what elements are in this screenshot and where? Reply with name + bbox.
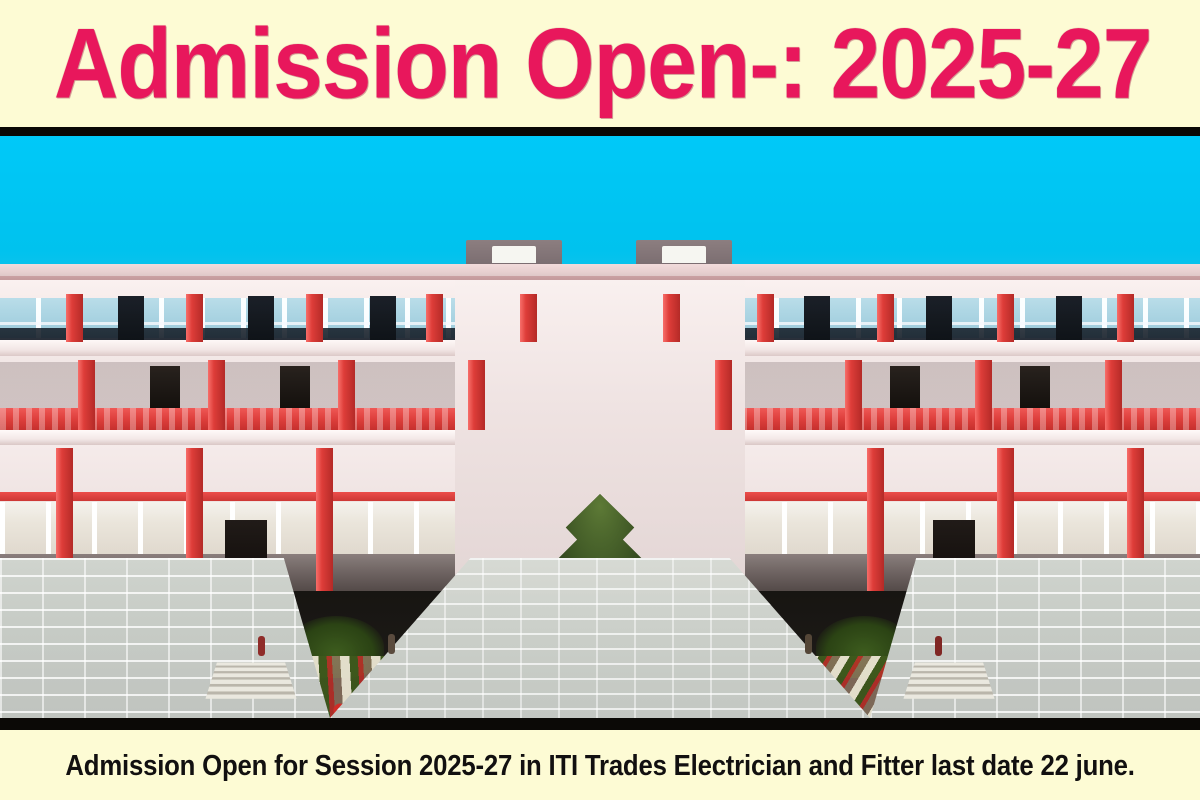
- pillar-mid-5: [715, 360, 732, 430]
- pillar-mid-4: [468, 360, 485, 430]
- admission-banner: Admission Open-: 2025-27: [0, 0, 1200, 800]
- pillar-top-4: [426, 294, 443, 342]
- pillar-top-7: [757, 294, 774, 342]
- page-title: Admission Open-: 2025-27: [48, 14, 1151, 113]
- bottom-divider: [0, 718, 1200, 730]
- pillar-top-2: [186, 294, 203, 342]
- roof-structure-right: [636, 240, 732, 266]
- pillar-mid-8: [1105, 360, 1122, 430]
- person-right-2: [805, 634, 812, 654]
- title-bar: Admission Open-: 2025-27: [0, 0, 1200, 127]
- stairs-left: [205, 662, 296, 698]
- person-left: [258, 636, 265, 656]
- pillar-mid-7: [975, 360, 992, 430]
- pillar-mid-2: [208, 360, 225, 430]
- caption-bar: Admission Open for Session 2025-27 in IT…: [0, 730, 1200, 800]
- pillar-top-6: [663, 294, 680, 342]
- pillar-ground-3: [316, 448, 333, 596]
- pillar-mid-1: [78, 360, 95, 430]
- pillar-ground-4: [867, 448, 884, 596]
- door-mid-left: [150, 366, 180, 408]
- door-mid-right-2: [890, 366, 920, 408]
- door-top-right: [1056, 296, 1082, 340]
- person-left-2: [388, 634, 395, 654]
- caption-text: Admission Open for Session 2025-27 in IT…: [65, 748, 1134, 783]
- roof-structure-left: [466, 240, 562, 266]
- pillar-top-9: [997, 294, 1014, 342]
- door-top-left: [118, 296, 144, 340]
- door-top-left-3: [370, 296, 396, 340]
- door-mid-right: [1020, 366, 1050, 408]
- top-divider: [0, 127, 1200, 136]
- pillar-top-5: [520, 294, 537, 342]
- pillar-top-8: [877, 294, 894, 342]
- pillar-mid-6: [845, 360, 862, 430]
- pillar-top-10: [1117, 294, 1134, 342]
- pillar-top-1: [66, 294, 83, 342]
- pillar-top-3: [306, 294, 323, 342]
- pillar-mid-3: [338, 360, 355, 430]
- door-mid-left-2: [280, 366, 310, 408]
- stairs-right: [903, 662, 994, 698]
- door-top-right-3: [804, 296, 830, 340]
- building-photo: [0, 136, 1200, 718]
- person-right: [935, 636, 942, 656]
- door-top-left-2: [248, 296, 274, 340]
- door-top-right-2: [926, 296, 952, 340]
